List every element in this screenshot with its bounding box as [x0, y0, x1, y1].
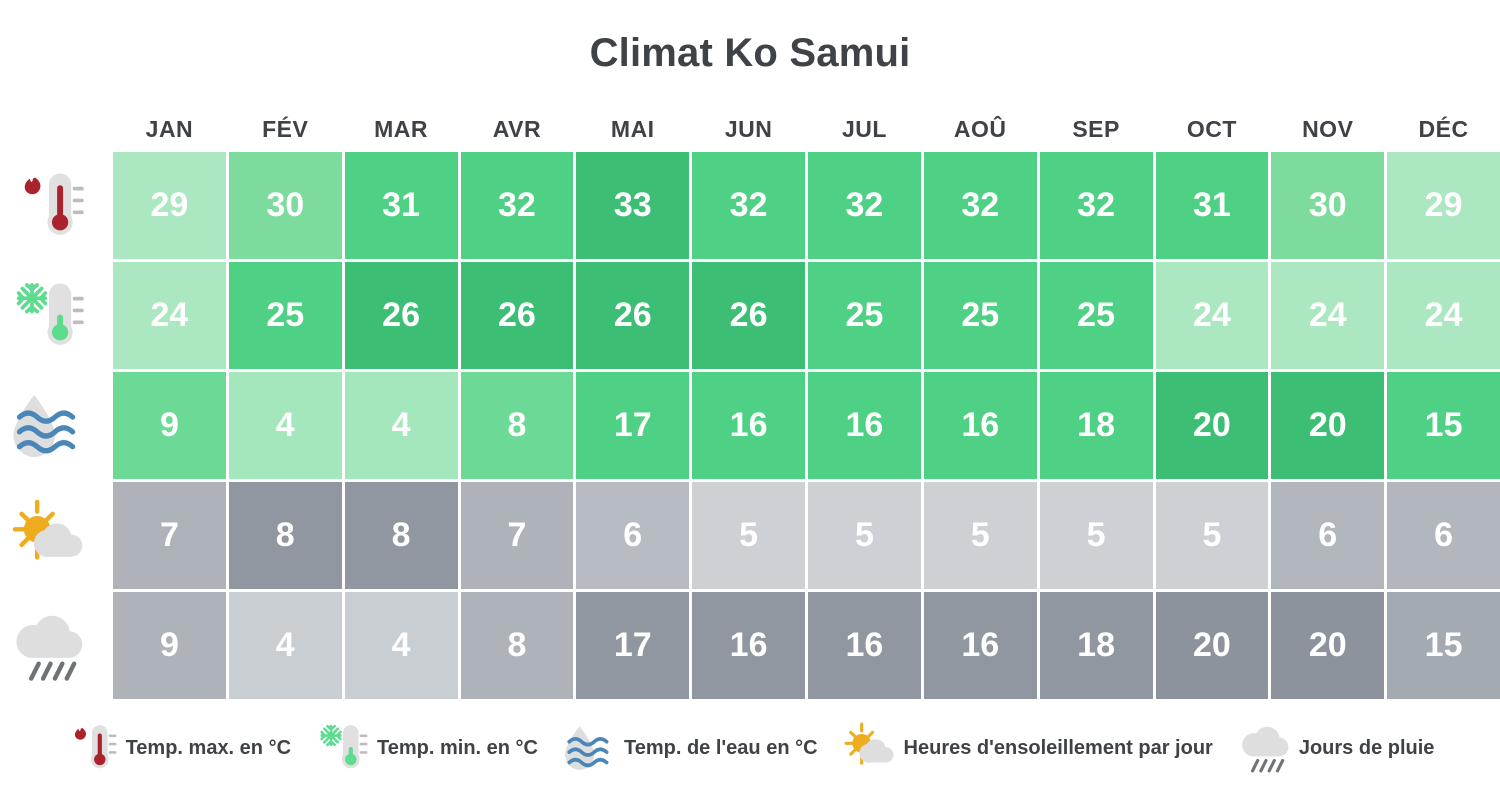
cell-rain-days: 16 [692, 592, 805, 699]
month-header: NOV [1271, 118, 1384, 149]
climate-grid: JANFÉVMARAVRMAIJUNJULAOÛSEPOCTNOVDÉC 293… [0, 118, 1500, 699]
legend-item-rain-days: Jours de pluie [1239, 722, 1435, 774]
cell-water-temp: 20 [1271, 372, 1384, 479]
month-header: MAR [345, 118, 458, 149]
cell-rain-days: 16 [808, 592, 921, 699]
cell-temp-min: 24 [1271, 262, 1384, 369]
month-header: JUN [692, 118, 805, 149]
cell-temp-min: 24 [113, 262, 226, 369]
rain-cloud-icon [1239, 722, 1291, 774]
sun-cloud-icon [12, 499, 86, 573]
month-header: SEP [1040, 118, 1153, 149]
cell-water-temp: 16 [924, 372, 1037, 479]
month-header: JAN [113, 118, 226, 149]
cell-temp-min: 26 [692, 262, 805, 369]
month-header: MAI [576, 118, 689, 149]
cell-temp-max: 29 [113, 152, 226, 259]
cell-sunshine-hours: 7 [113, 482, 226, 589]
row-icon-water-temp [0, 372, 110, 479]
cell-temp-max: 32 [461, 152, 574, 259]
legend-item-sunshine-hours: Heures d'ensoleillement par jour [844, 722, 1213, 774]
cell-temp-min: 25 [229, 262, 342, 369]
cell-temp-max: 30 [1271, 152, 1384, 259]
cell-temp-max: 32 [1040, 152, 1153, 259]
cell-sunshine-hours: 5 [1040, 482, 1153, 589]
cell-rain-days: 4 [345, 592, 458, 699]
cell-sunshine-hours: 5 [808, 482, 921, 589]
legend-item-water-temp: Temp. de l'eau en °C [564, 722, 818, 774]
water-waves-icon [564, 722, 616, 774]
thermometer-hot-icon [66, 722, 118, 774]
cell-temp-min: 26 [461, 262, 574, 369]
month-header: DÉC [1387, 118, 1500, 149]
cell-water-temp: 20 [1156, 372, 1269, 479]
cell-water-temp: 17 [576, 372, 689, 479]
cell-temp-max: 29 [1387, 152, 1500, 259]
cell-sunshine-hours: 7 [461, 482, 574, 589]
cell-temp-max: 32 [808, 152, 921, 259]
climate-table-page: Climat Ko Samui JANFÉVMARAVRMAIJUNJULAOÛ… [0, 0, 1500, 808]
cell-water-temp: 9 [113, 372, 226, 479]
cell-rain-days: 18 [1040, 592, 1153, 699]
rain-cloud-icon [12, 609, 86, 683]
month-header: OCT [1156, 118, 1269, 149]
cell-temp-min: 25 [924, 262, 1037, 369]
cell-sunshine-hours: 5 [692, 482, 805, 589]
grid-corner-spacer [0, 118, 110, 149]
cell-sunshine-hours: 8 [229, 482, 342, 589]
legend-label: Temp. min. en °C [377, 738, 538, 758]
cell-rain-days: 4 [229, 592, 342, 699]
row-icon-temp-max [0, 152, 110, 259]
cell-rain-days: 8 [461, 592, 574, 699]
month-header: FÉV [229, 118, 342, 149]
cell-sunshine-hours: 5 [924, 482, 1037, 589]
cell-water-temp: 16 [808, 372, 921, 479]
cell-temp-min: 26 [345, 262, 458, 369]
legend-label: Temp. de l'eau en °C [624, 738, 818, 758]
cell-rain-days: 9 [113, 592, 226, 699]
row-icon-rain-days [0, 592, 110, 699]
cell-rain-days: 20 [1271, 592, 1384, 699]
month-header: JUL [808, 118, 921, 149]
legend-label: Jours de pluie [1299, 738, 1435, 758]
cell-water-temp: 16 [692, 372, 805, 479]
thermometer-hot-icon [12, 169, 86, 243]
month-header: AVR [461, 118, 574, 149]
cell-water-temp: 4 [345, 372, 458, 479]
cell-temp-min: 25 [808, 262, 921, 369]
page-title: Climat Ko Samui [0, 0, 1500, 76]
cell-water-temp: 8 [461, 372, 574, 479]
cell-temp-max: 33 [576, 152, 689, 259]
cell-temp-max: 31 [345, 152, 458, 259]
cell-temp-min: 26 [576, 262, 689, 369]
cell-rain-days: 15 [1387, 592, 1500, 699]
cell-temp-min: 24 [1156, 262, 1269, 369]
row-icon-temp-min [0, 262, 110, 369]
cell-temp-min: 24 [1387, 262, 1500, 369]
cell-sunshine-hours: 5 [1156, 482, 1269, 589]
cell-sunshine-hours: 6 [1387, 482, 1500, 589]
thermometer-cold-icon [12, 279, 86, 353]
legend-item-temp-max: Temp. max. en °C [66, 722, 291, 774]
legend-label: Heures d'ensoleillement par jour [904, 738, 1213, 758]
cell-temp-max: 32 [692, 152, 805, 259]
month-header: AOÛ [924, 118, 1037, 149]
cell-water-temp: 4 [229, 372, 342, 479]
cell-water-temp: 18 [1040, 372, 1153, 479]
legend: Temp. max. en °C Temp. min. en °C Temp. … [0, 722, 1500, 774]
cell-sunshine-hours: 6 [1271, 482, 1384, 589]
water-waves-icon [12, 389, 86, 463]
legend-label: Temp. max. en °C [126, 738, 291, 758]
legend-item-temp-min: Temp. min. en °C [317, 722, 538, 774]
cell-temp-max: 31 [1156, 152, 1269, 259]
cell-sunshine-hours: 6 [576, 482, 689, 589]
cell-sunshine-hours: 8 [345, 482, 458, 589]
cell-rain-days: 16 [924, 592, 1037, 699]
cell-temp-max: 32 [924, 152, 1037, 259]
cell-temp-max: 30 [229, 152, 342, 259]
thermometer-cold-icon [317, 722, 369, 774]
row-icon-sunshine-hours [0, 482, 110, 589]
cell-rain-days: 17 [576, 592, 689, 699]
climate-data-table: JANFÉVMARAVRMAIJUNJULAOÛSEPOCTNOVDÉC 293… [0, 118, 1500, 699]
cell-rain-days: 20 [1156, 592, 1269, 699]
sun-cloud-icon [844, 722, 896, 774]
cell-water-temp: 15 [1387, 372, 1500, 479]
cell-temp-min: 25 [1040, 262, 1153, 369]
